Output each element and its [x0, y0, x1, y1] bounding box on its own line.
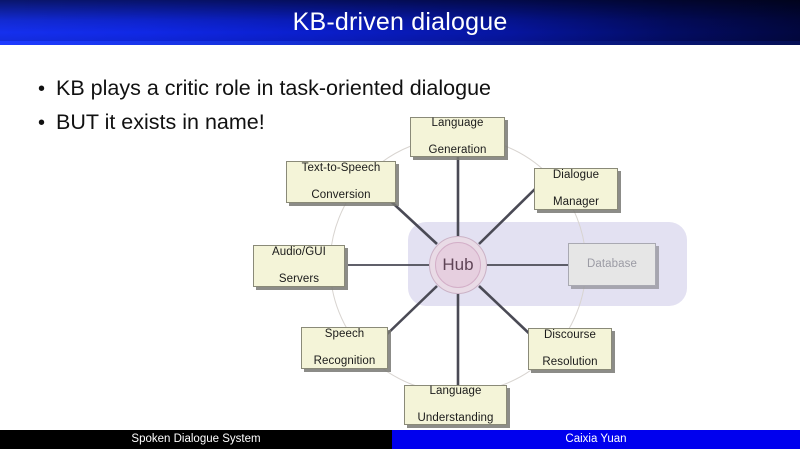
node-database: Database [568, 243, 656, 286]
guide-circle [330, 137, 586, 393]
footer-right-label: Caixia Yuan [392, 430, 800, 449]
node-label: Audio/GUIServers [266, 246, 332, 287]
diagram-canvas [0, 0, 800, 449]
node-label: DiscourseResolution [536, 329, 603, 370]
page-title: KB-driven dialogue [0, 0, 800, 45]
footer-left-label: Spoken Dialogue System [0, 430, 392, 449]
hub-architecture-diagram: Hub LanguageGeneration DialogueManager D… [0, 0, 800, 449]
node-speech-recognition: SpeechRecognition [301, 327, 388, 369]
list-item: • KB plays a critic role in task-oriente… [38, 76, 638, 101]
slide-footer: Spoken Dialogue System Caixia Yuan [0, 430, 800, 449]
hub-label: Hub [442, 255, 473, 275]
node-label: SpeechRecognition [308, 328, 382, 369]
node-label: Database [584, 258, 640, 272]
bullet-marker-icon: • [38, 79, 56, 99]
node-dialogue-manager: DialogueManager [534, 168, 618, 210]
node-discourse-resolution: DiscourseResolution [528, 328, 612, 370]
node-text-to-speech-conversion: Text-to-SpeechConversion [286, 161, 396, 203]
slide-title-bar: KB-driven dialogue [0, 0, 800, 45]
highlight-band [408, 222, 687, 306]
bullet-text: BUT it exists in name! [56, 110, 265, 135]
node-label: DialogueManager [547, 169, 605, 210]
hub-node: Hub [429, 236, 487, 294]
bullet-list: • KB plays a critic role in task-oriente… [38, 76, 638, 145]
slide: KB-driven dialogue • KB plays a critic r… [0, 0, 800, 449]
hub-label-circle: Hub [435, 242, 481, 288]
node-audio-gui-servers: Audio/GUIServers [253, 245, 345, 287]
node-label: Text-to-SpeechConversion [296, 162, 387, 203]
list-item: • BUT it exists in name! [38, 110, 638, 135]
node-language-understanding: LanguageUnderstanding [404, 385, 507, 425]
bullet-text: KB plays a critic role in task-oriented … [56, 76, 491, 101]
spoke-lines [383, 157, 536, 385]
bullet-marker-icon: • [38, 113, 56, 133]
node-label: LanguageUnderstanding [411, 385, 499, 426]
